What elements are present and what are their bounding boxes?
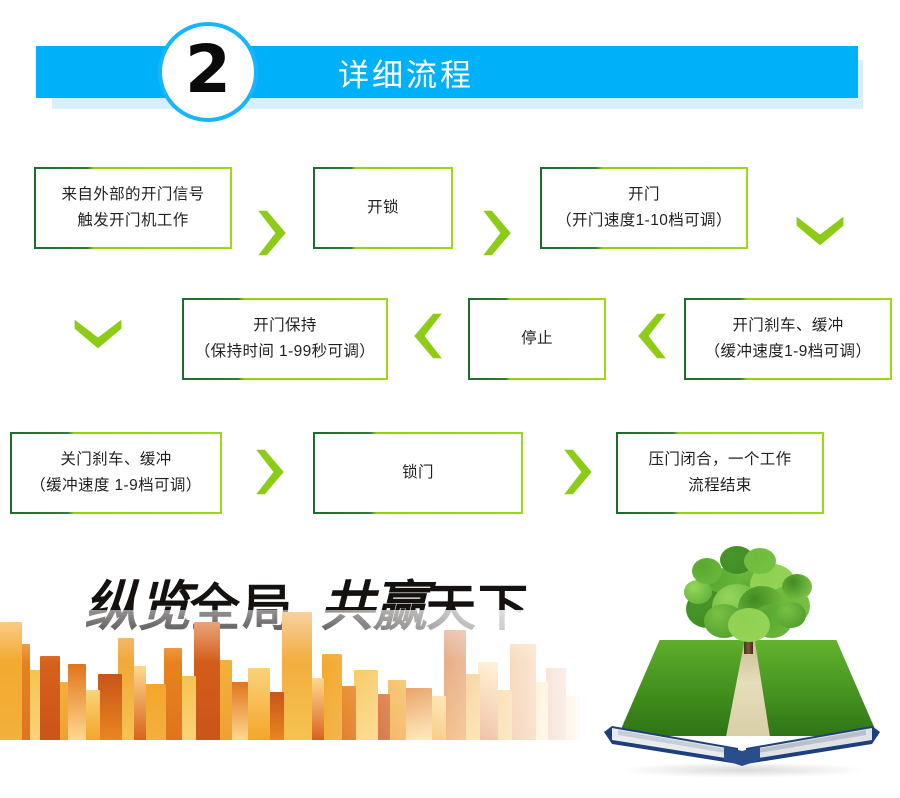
flow-box-signal-line-1: 来自外部的开门信号	[61, 182, 204, 208]
flow-box-lock-door: 锁门	[313, 432, 523, 514]
book-pages	[604, 726, 880, 768]
flow-box-finish-line-1: 压门闭合，一个工作	[648, 447, 791, 473]
flow-box-finish: 压门闭合，一个工作流程结束	[616, 432, 824, 514]
flow-box-unlock: 开锁	[313, 167, 453, 249]
flow-diagram: 来自外部的开门信号触发开门机工作开锁开门（开门速度1-10档可调）开门保持（保持…	[0, 140, 900, 540]
tree-foliage-blob	[782, 574, 812, 600]
flow-box-hold-open: 开门保持（保持时间 1-99秒可调）	[182, 298, 388, 380]
flow-box-hold-open-line-1: 开门保持	[253, 313, 317, 339]
flow-box-open-brake-line-2: （缓冲速度1-9档可调）	[705, 339, 872, 365]
flow-box-hold-open-line-2: （保持时间 1-99秒可调）	[195, 339, 375, 365]
golden-city-skyline-image	[0, 610, 580, 740]
tree-foliage-blob	[744, 548, 776, 574]
flow-box-signal: 来自外部的开门信号触发开门机工作	[34, 167, 232, 249]
page-title: 详细流程	[338, 46, 474, 98]
chevron-left-1	[408, 312, 448, 360]
city-right-haze	[0, 610, 580, 740]
flow-box-open-door: 开门（开门速度1-10档可调）	[540, 167, 748, 249]
chevron-left-2	[632, 312, 672, 360]
chevron-down-2	[72, 316, 124, 352]
flow-box-close-brake-line-2: （缓冲速度 1-9档可调）	[30, 473, 201, 499]
tree-foliage-blob	[776, 602, 806, 628]
section-footer-imagery: 纵览全局共赢天下	[0, 540, 900, 798]
flow-box-unlock-line-1: 开锁	[367, 195, 399, 221]
chevron-right-1	[252, 209, 292, 257]
chevron-right-2	[477, 209, 517, 257]
flow-box-stop: 停止	[468, 298, 606, 380]
flow-box-signal-line-2: 触发开门机工作	[77, 208, 188, 234]
chevron-right-3	[250, 448, 290, 496]
flow-box-open-brake-line-1: 开门刹车、缓冲	[732, 313, 843, 339]
chevron-down-1	[794, 213, 846, 249]
flow-box-stop-line-1: 停止	[521, 326, 553, 352]
flow-box-open-door-line-2: （开门速度1-10档可调）	[556, 208, 732, 234]
flow-box-lock-door-line-1: 锁门	[402, 460, 434, 486]
open-book-with-tree-image	[578, 540, 900, 798]
tree-canopy	[682, 546, 814, 644]
flow-box-finish-line-2: 流程结束	[688, 473, 752, 499]
flow-box-open-brake: 开门刹车、缓冲（缓冲速度1-9档可调）	[684, 298, 892, 380]
flow-box-open-door-line-1: 开门	[628, 182, 660, 208]
step-number-text: 2	[185, 37, 231, 103]
flow-box-close-brake: 关门刹车、缓冲（缓冲速度 1-9档可调）	[10, 432, 222, 514]
chevron-right-4	[558, 448, 598, 496]
book-grass-left	[618, 640, 748, 736]
flow-box-close-brake-line-1: 关门刹车、缓冲	[60, 447, 171, 473]
step-number-badge: 2	[158, 22, 258, 122]
page-root: 2 详细流程 来自外部的开门信号触发开门机工作开锁开门（开门速度1-10档可调）…	[0, 0, 900, 798]
tree-foliage-blob	[728, 608, 770, 642]
section-header: 2 详细流程	[0, 0, 900, 140]
tree-foliage-blob	[692, 558, 722, 584]
